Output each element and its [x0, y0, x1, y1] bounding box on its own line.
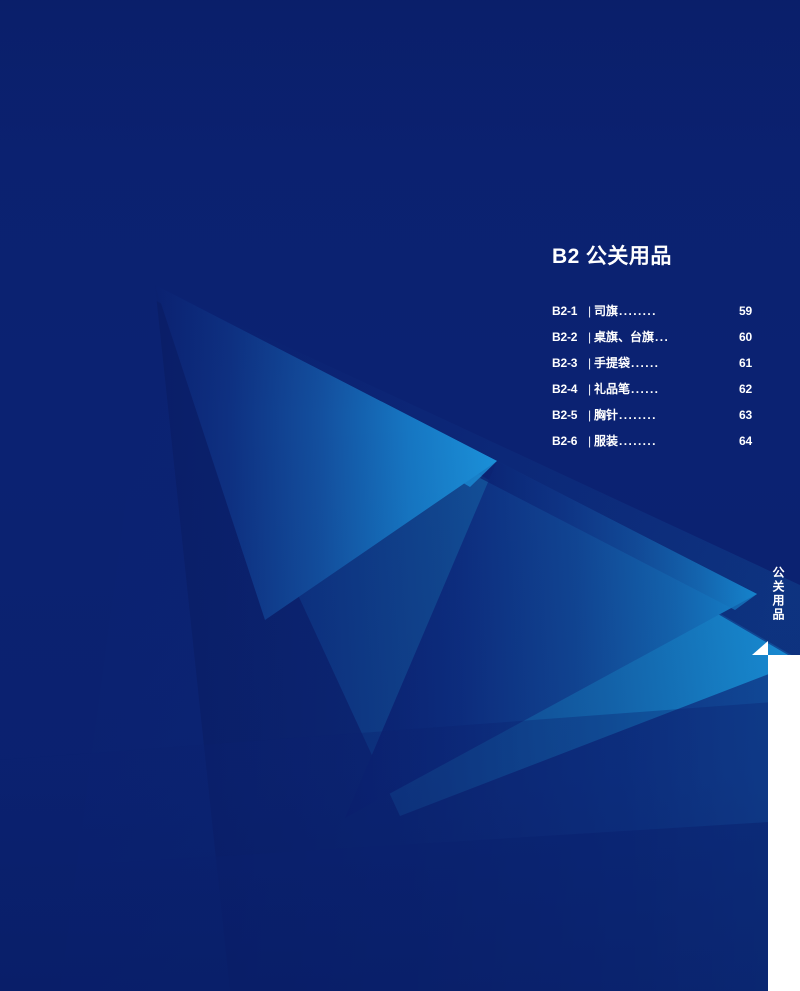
toc-page-number: 61: [739, 356, 752, 370]
toc-dot-leader: ........: [618, 408, 739, 422]
page-title-code: B2: [552, 245, 580, 268]
toc-page-number: 59: [739, 304, 752, 318]
toc-code: B2-5: [552, 408, 585, 422]
toc-item-b2-2[interactable]: B2-2 | 桌旗、台旗 ... 60: [552, 328, 752, 345]
page-background: [0, 0, 800, 991]
toc-code: B2-3: [552, 356, 585, 370]
toc-item-b2-3[interactable]: B2-3 | 手提袋 ...... 61: [552, 354, 752, 371]
toc-dot-leader: ...: [654, 330, 739, 344]
section-side-tab-label: 公关用品: [772, 566, 784, 622]
toc-separator: |: [585, 356, 594, 370]
toc-code: B2-1: [552, 304, 585, 318]
toc-label: 胸针: [594, 406, 618, 423]
toc-page-number: 62: [739, 382, 752, 396]
toc-dot-leader: ......: [630, 356, 739, 370]
toc-separator: |: [585, 434, 594, 448]
page-tab-notch-bevel: [752, 641, 768, 655]
toc-label: 礼品笔: [594, 380, 630, 397]
toc-page-number: 60: [739, 330, 752, 344]
toc-label: 桌旗、台旗: [594, 328, 654, 345]
toc-separator: |: [585, 304, 594, 318]
toc-item-b2-6[interactable]: B2-6 | 服装 ........ 64: [552, 432, 752, 449]
toc-separator: |: [585, 408, 594, 422]
page-title: B2公关用品: [552, 240, 752, 270]
toc-code: B2-2: [552, 330, 585, 344]
page-title-text: 公关用品: [586, 245, 672, 268]
toc-label: 司旗: [594, 302, 618, 319]
toc-item-b2-4[interactable]: B2-4 | 礼品笔 ...... 62: [552, 380, 752, 397]
toc-dot-leader: ........: [618, 304, 739, 318]
toc-code: B2-6: [552, 434, 585, 448]
toc-separator: |: [585, 382, 594, 396]
toc-list: B2-1 | 司旗 ........ 59 B2-2 | 桌旗、台旗 ... 6…: [552, 302, 752, 449]
toc-item-b2-1[interactable]: B2-1 | 司旗 ........ 59: [552, 302, 752, 319]
toc-code: B2-4: [552, 382, 585, 396]
section-toc: B2公关用品 B2-1 | 司旗 ........ 59 B2-2 | 桌旗、台…: [552, 240, 752, 458]
toc-separator: |: [585, 330, 594, 344]
toc-dot-leader: ........: [618, 434, 739, 448]
toc-label: 手提袋: [594, 354, 630, 371]
catalog-divider-page: 公关用品 B2公关用品 B2-1 | 司旗 ........ 59 B2-2 |…: [0, 0, 800, 991]
page-tab-notch: [768, 655, 800, 991]
toc-page-number: 64: [739, 434, 752, 448]
toc-item-b2-5[interactable]: B2-5 | 胸针 ........ 63: [552, 406, 752, 423]
section-side-tab: 公关用品: [768, 566, 788, 627]
toc-dot-leader: ......: [630, 382, 739, 396]
toc-label: 服装: [594, 432, 618, 449]
toc-page-number: 63: [739, 408, 752, 422]
